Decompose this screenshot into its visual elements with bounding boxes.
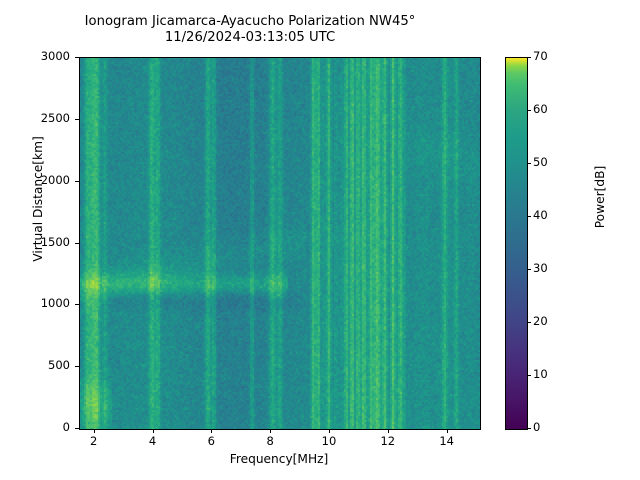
ionogram-heatmap[interactable] — [80, 58, 480, 429]
x-tick-label: 10 — [309, 434, 349, 448]
colorbar-tick-label: 60 — [533, 102, 563, 116]
chart-title: Ionogram Jicamarca-Ayacucho Polarization… — [0, 14, 500, 46]
y-tick-mark — [75, 366, 79, 367]
colorbar-tick-label: 30 — [533, 261, 563, 275]
plot-area[interactable] — [79, 57, 481, 430]
colorbar-tick-mark — [527, 428, 531, 429]
y-tick-label: 0 — [0, 420, 70, 434]
colorbar-tick-label: 10 — [533, 367, 563, 381]
x-tick-label: 12 — [368, 434, 408, 448]
colorbar-tick-mark — [527, 216, 531, 217]
colorbar-tick-mark — [527, 269, 531, 270]
colorbar-tick-mark — [527, 322, 531, 323]
colorbar-tick-label: 40 — [533, 208, 563, 222]
x-tick-mark — [94, 429, 95, 433]
colorbar-tick-label: 20 — [533, 314, 563, 328]
x-tick-mark — [211, 429, 212, 433]
y-tick-mark — [75, 428, 79, 429]
x-tick-mark — [388, 429, 389, 433]
y-axis-label: Virtual Distance[km] — [31, 99, 45, 299]
x-tick-label: 2 — [74, 434, 114, 448]
colorbar-tick-mark — [527, 110, 531, 111]
y-tick-mark — [75, 119, 79, 120]
x-tick-mark — [447, 429, 448, 433]
ionogram-figure: Ionogram Jicamarca-Ayacucho Polarization… — [0, 0, 640, 480]
colorbar-label: Power[dB] — [593, 97, 607, 297]
colorbar-tick-mark — [527, 375, 531, 376]
colorbar-tick-mark — [527, 163, 531, 164]
colorbar-tick-label: 0 — [533, 420, 563, 434]
colorbar-tick-mark — [527, 57, 531, 58]
y-tick-mark — [75, 181, 79, 182]
x-axis-label: Frequency[MHz] — [79, 452, 479, 466]
colorbar — [505, 57, 528, 430]
x-tick-mark — [153, 429, 154, 433]
x-tick-label: 6 — [191, 434, 231, 448]
y-tick-mark — [75, 57, 79, 58]
y-tick-label: 3000 — [0, 49, 70, 63]
x-tick-label: 8 — [250, 434, 290, 448]
y-tick-mark — [75, 243, 79, 244]
x-tick-label: 4 — [133, 434, 173, 448]
colorbar-tick-label: 50 — [533, 155, 563, 169]
x-tick-mark — [329, 429, 330, 433]
y-tick-label: 500 — [0, 358, 70, 372]
x-tick-mark — [270, 429, 271, 433]
colorbar-tick-label: 70 — [533, 49, 563, 63]
x-tick-label: 14 — [427, 434, 467, 448]
y-tick-mark — [75, 304, 79, 305]
